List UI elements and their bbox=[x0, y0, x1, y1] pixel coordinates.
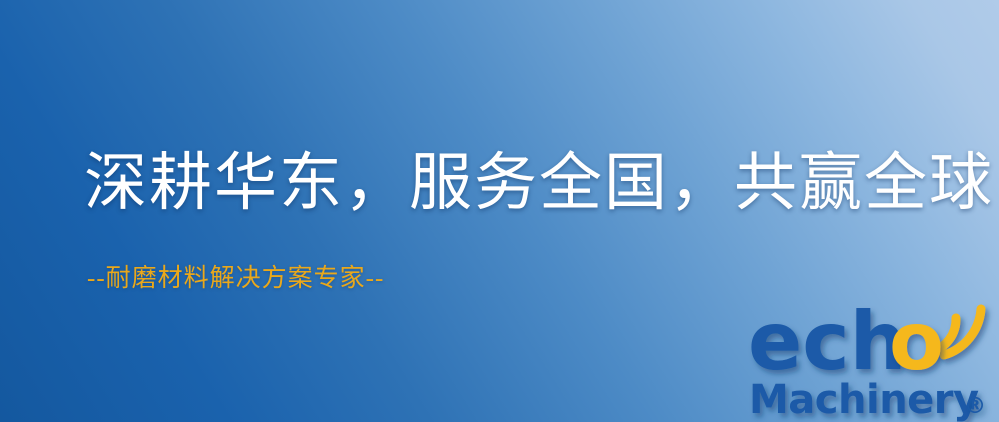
logo-wordmark-accent-o: o bbox=[889, 295, 944, 388]
page-subtitle: --耐磨材料解决方案专家-- bbox=[87, 266, 384, 291]
page-title: 深耕华东，服务全国，共赢全球 bbox=[84, 152, 994, 215]
hero-banner: 深耕华东，服务全国，共赢全球 --耐磨材料解决方案专家-- ech o Mach… bbox=[0, 0, 999, 422]
logo-tagline: Machinery bbox=[749, 377, 979, 422]
company-logo[interactable]: ech o Machinery ® bbox=[748, 296, 996, 422]
trademark-icon: ® bbox=[964, 394, 986, 419]
logo-wordmark-ech: ech bbox=[748, 295, 907, 388]
